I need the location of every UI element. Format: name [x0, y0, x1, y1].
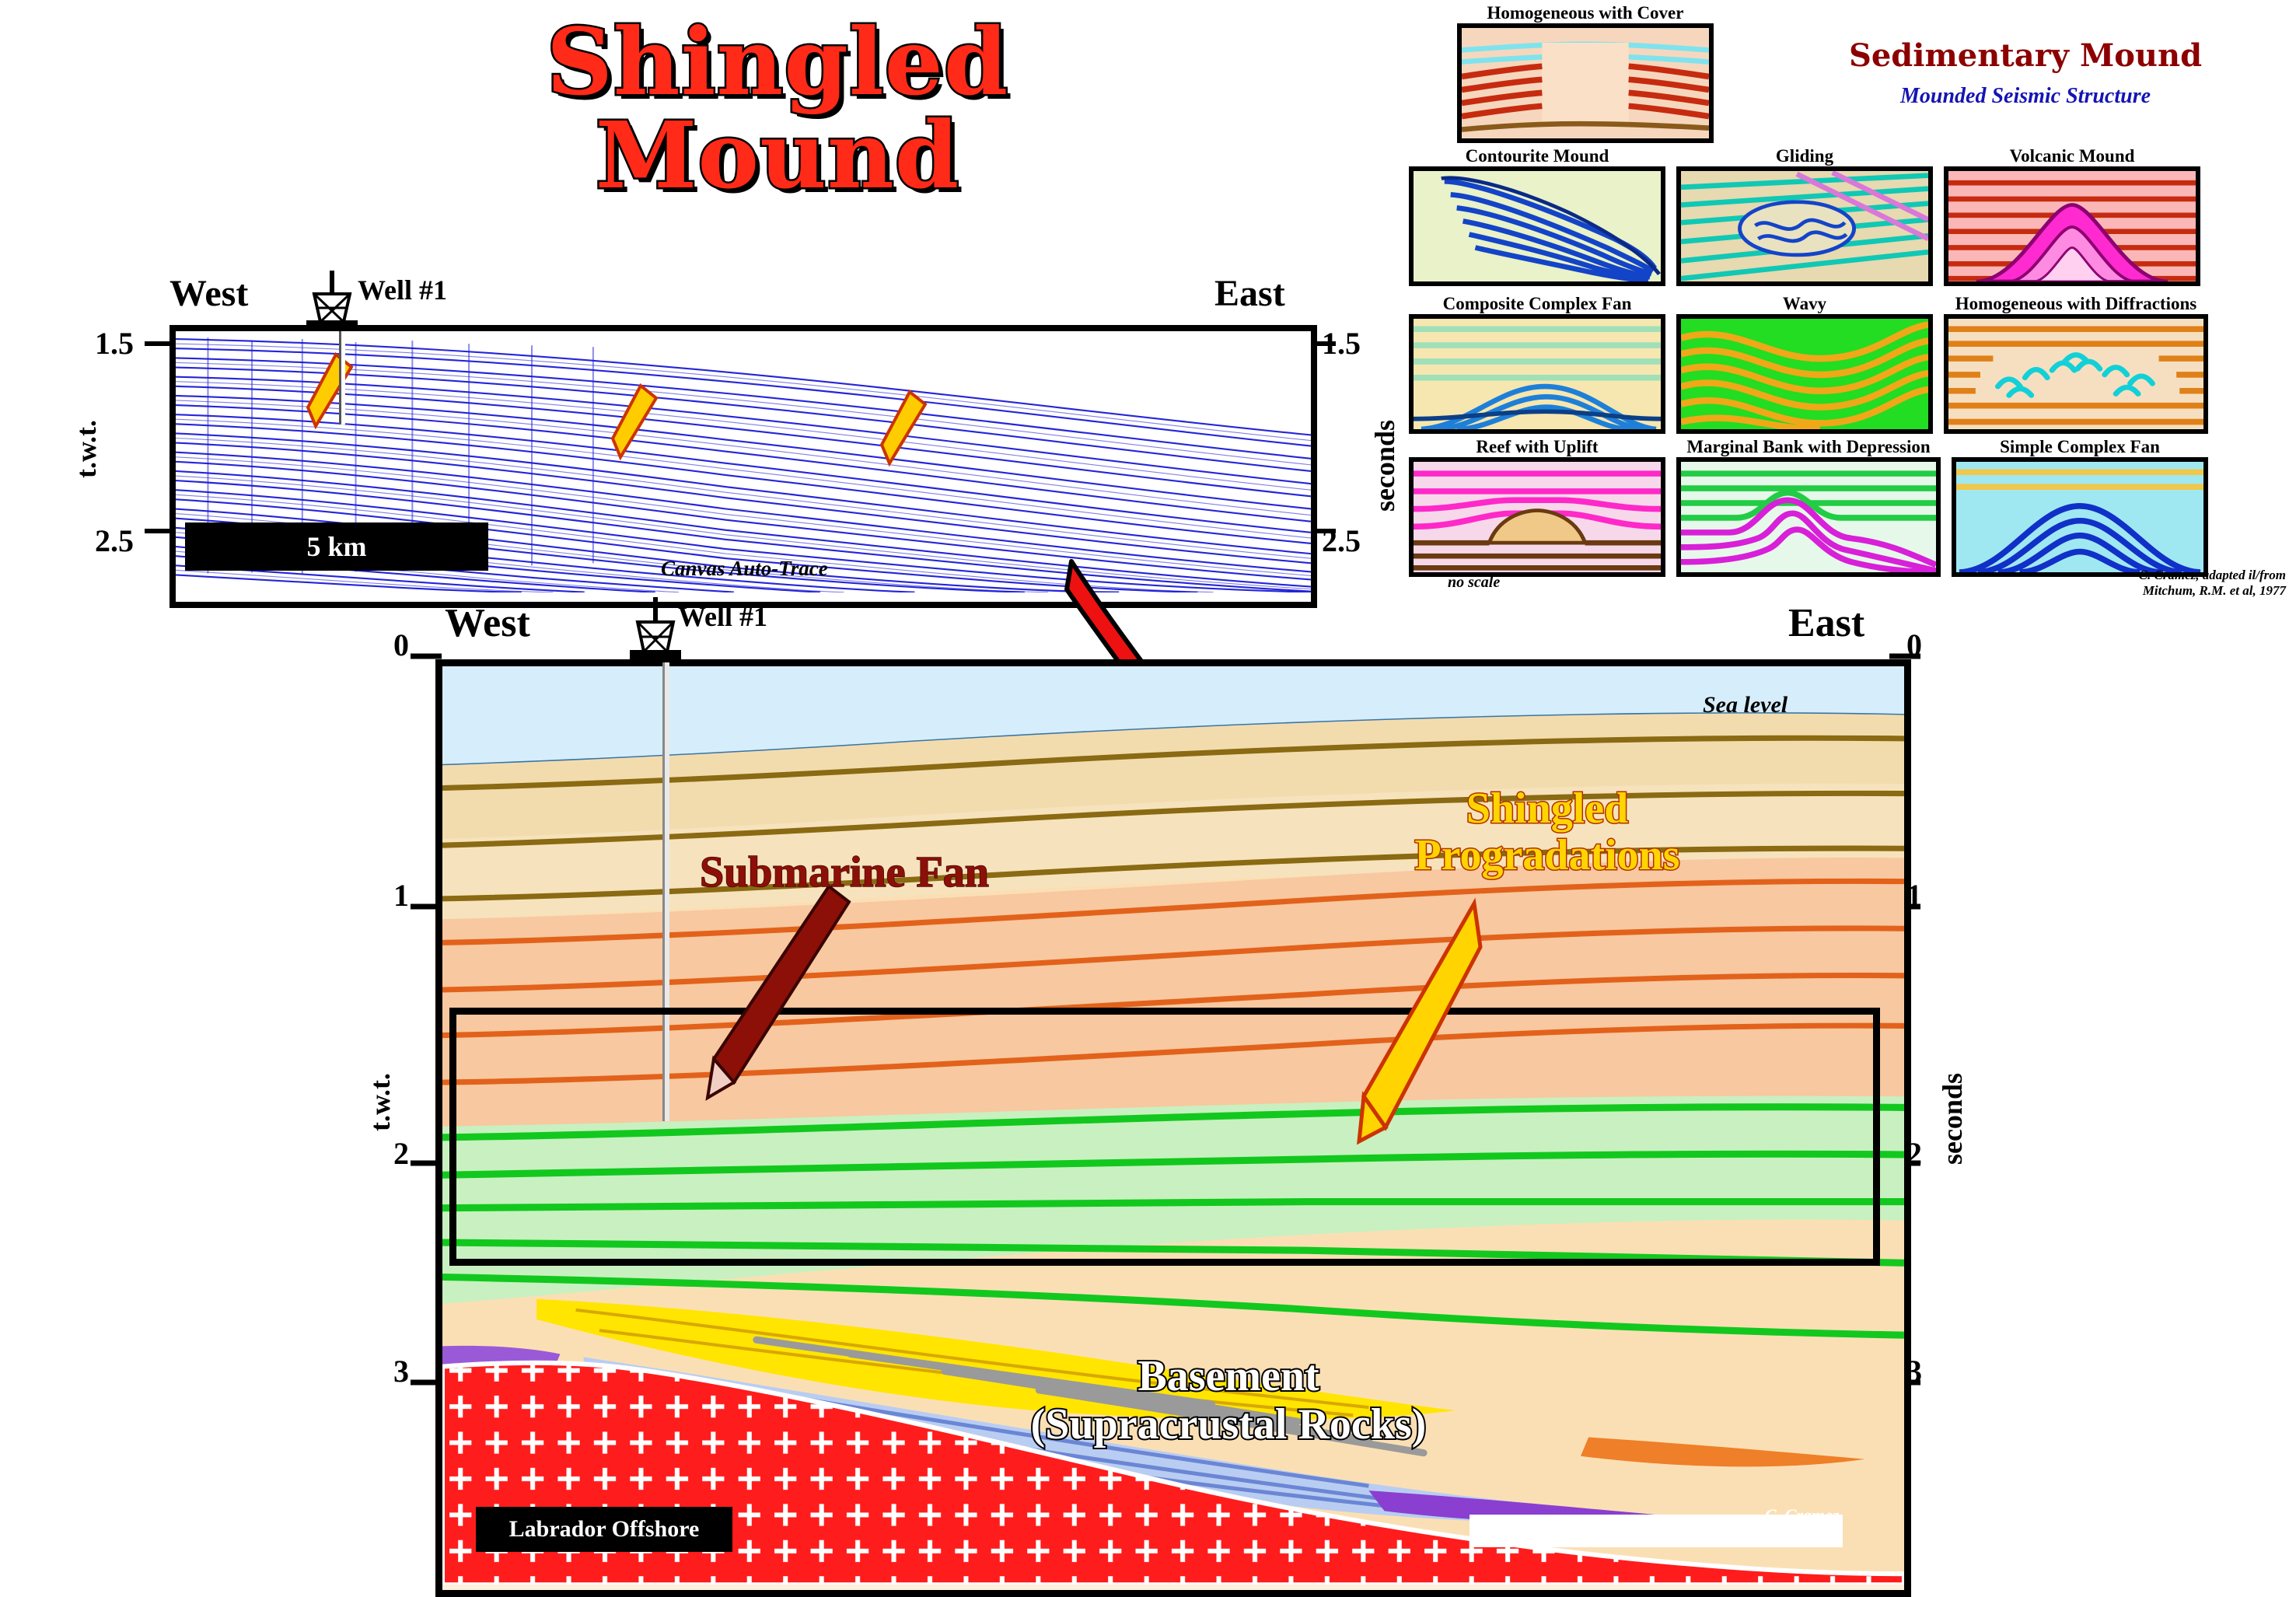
card-caption: Marginal Bank with Depression [1676, 437, 1941, 457]
no-scale-note: no scale [1448, 574, 1500, 592]
seismic-left-tick-2: 2.5 [95, 522, 134, 559]
interp-left-axis-title: t.w.t. [364, 1073, 397, 1131]
submarine-fan-label: Submarine Fan [700, 847, 989, 897]
card-thumb [1952, 457, 2208, 577]
interp-left-tick-1: 1 [393, 877, 409, 914]
interp-credit: C. Cramez [1765, 1505, 1839, 1525]
card-caption: Composite Complex Fan [1409, 294, 1665, 314]
card-caption: Homogeneous with Cover [1457, 3, 1714, 23]
zoom-region-outline [449, 1008, 1880, 1266]
card-homogeneous-with-diffractions[interactable]: Homogeneous with Diffractions [1944, 294, 2208, 434]
card-thumb [1409, 314, 1665, 434]
seismic-caption: Canvas Auto-Trace [661, 557, 828, 581]
seismic-east-label: East [1214, 272, 1285, 315]
interp-left-tick-3: 3 [393, 1353, 409, 1389]
card-wavy[interactable]: Wavy [1676, 294, 1933, 434]
card-caption: Gliding [1676, 146, 1933, 166]
page-title-line1: Shingled [482, 16, 1073, 109]
card-volcanic-mound[interactable]: Volcanic Mound [1944, 146, 2200, 286]
basement-label: Basement (Supracrustal Rocks) [956, 1353, 1501, 1448]
location-tag: Labrador Offshore [476, 1507, 732, 1552]
card-composite-complex-fan[interactable]: Composite Complex Fan [1409, 294, 1665, 434]
card-thumb [1944, 166, 2200, 286]
card-contourite-mound[interactable]: Contourite Mound [1409, 146, 1665, 286]
seismic-well-track [339, 331, 345, 425]
card-thumb [1676, 166, 1933, 286]
seismic-scalebar: 5 km [185, 522, 488, 571]
card-thumb [1409, 166, 1665, 286]
card-marginal-bank-with-depression[interactable]: Marginal Bank with Depression [1676, 437, 1941, 577]
seismic-left-tick-1: 1.5 [95, 325, 134, 362]
page-title-line2: Mound [482, 109, 1073, 202]
shingled-progradations-line2: Progradations [1345, 832, 1749, 879]
card-caption: Wavy [1676, 294, 1933, 314]
shingle-pick-icon-3 [869, 389, 931, 474]
card-reef-with-uplift[interactable]: Reef with Uplift [1409, 437, 1665, 577]
basement-line1: Basement [956, 1353, 1501, 1401]
shingle-pick-icon-2 [600, 383, 662, 468]
card-gliding[interactable]: Gliding [1676, 146, 1933, 286]
interp-right-axis-title: seconds [1936, 1073, 1969, 1165]
card-caption: Homogeneous with Diffractions [1944, 294, 2208, 314]
interp-left-tick-0: 0 [393, 627, 409, 663]
card-thumb [1457, 23, 1714, 143]
card-caption: Simple Complex Fan [1952, 437, 2208, 457]
classification-title: Sedimentary Mound [1823, 37, 2228, 74]
interp-west-label: West [445, 600, 530, 646]
card-caption: Reef with Uplift [1409, 437, 1665, 457]
card-thumb [1944, 314, 2208, 434]
seismic-west-label: West [169, 272, 248, 315]
shingled-progradations-label: Shingled Progradations [1345, 785, 1749, 879]
card-thumb [1676, 314, 1933, 434]
card-thumb [1676, 457, 1941, 577]
card-thumb [1409, 457, 1665, 577]
interp-well-label: Well #1 [678, 600, 767, 633]
shingled-progradations-line1: Shingled [1345, 785, 1749, 832]
card-caption: Volcanic Mound [1944, 146, 2200, 166]
classification-subtitle: Mounded Seismic Structure [1823, 84, 2228, 109]
shingle-pick-icon-1 [295, 351, 358, 437]
card-caption: Contourite Mound [1409, 146, 1665, 166]
seismic-well-label: Well #1 [358, 274, 447, 306]
basement-line2: (Supracrustal Rocks) [956, 1401, 1501, 1449]
page-title: Shingled Mound [482, 16, 1073, 203]
shingled-progradations-leader-icon [1314, 894, 1485, 1151]
interp-left-tick-2: 2 [393, 1135, 409, 1172]
seismic-right-axis-title: seconds [1368, 420, 1401, 512]
classification-credit: C. Cramez, adapted il/from Mitchum, R.M.… [2092, 568, 2286, 598]
submarine-fan-leader-icon [684, 879, 871, 1104]
interp-east-label: East [1788, 600, 1864, 646]
card-homogeneous-with-cover[interactable]: Homogeneous with Cover [1457, 3, 1714, 143]
classification-credit-line1: C. Cramez, adapted il/from [2092, 568, 2286, 583]
classification-credit-line2: Mitchum, R.M. et al, 1977 [2092, 583, 2286, 599]
card-simple-complex-fan[interactable]: Simple Complex Fan [1952, 437, 2208, 577]
sea-level-label: Sea level [1703, 692, 1788, 718]
seismic-left-axis-title: t.w.t. [70, 420, 103, 478]
